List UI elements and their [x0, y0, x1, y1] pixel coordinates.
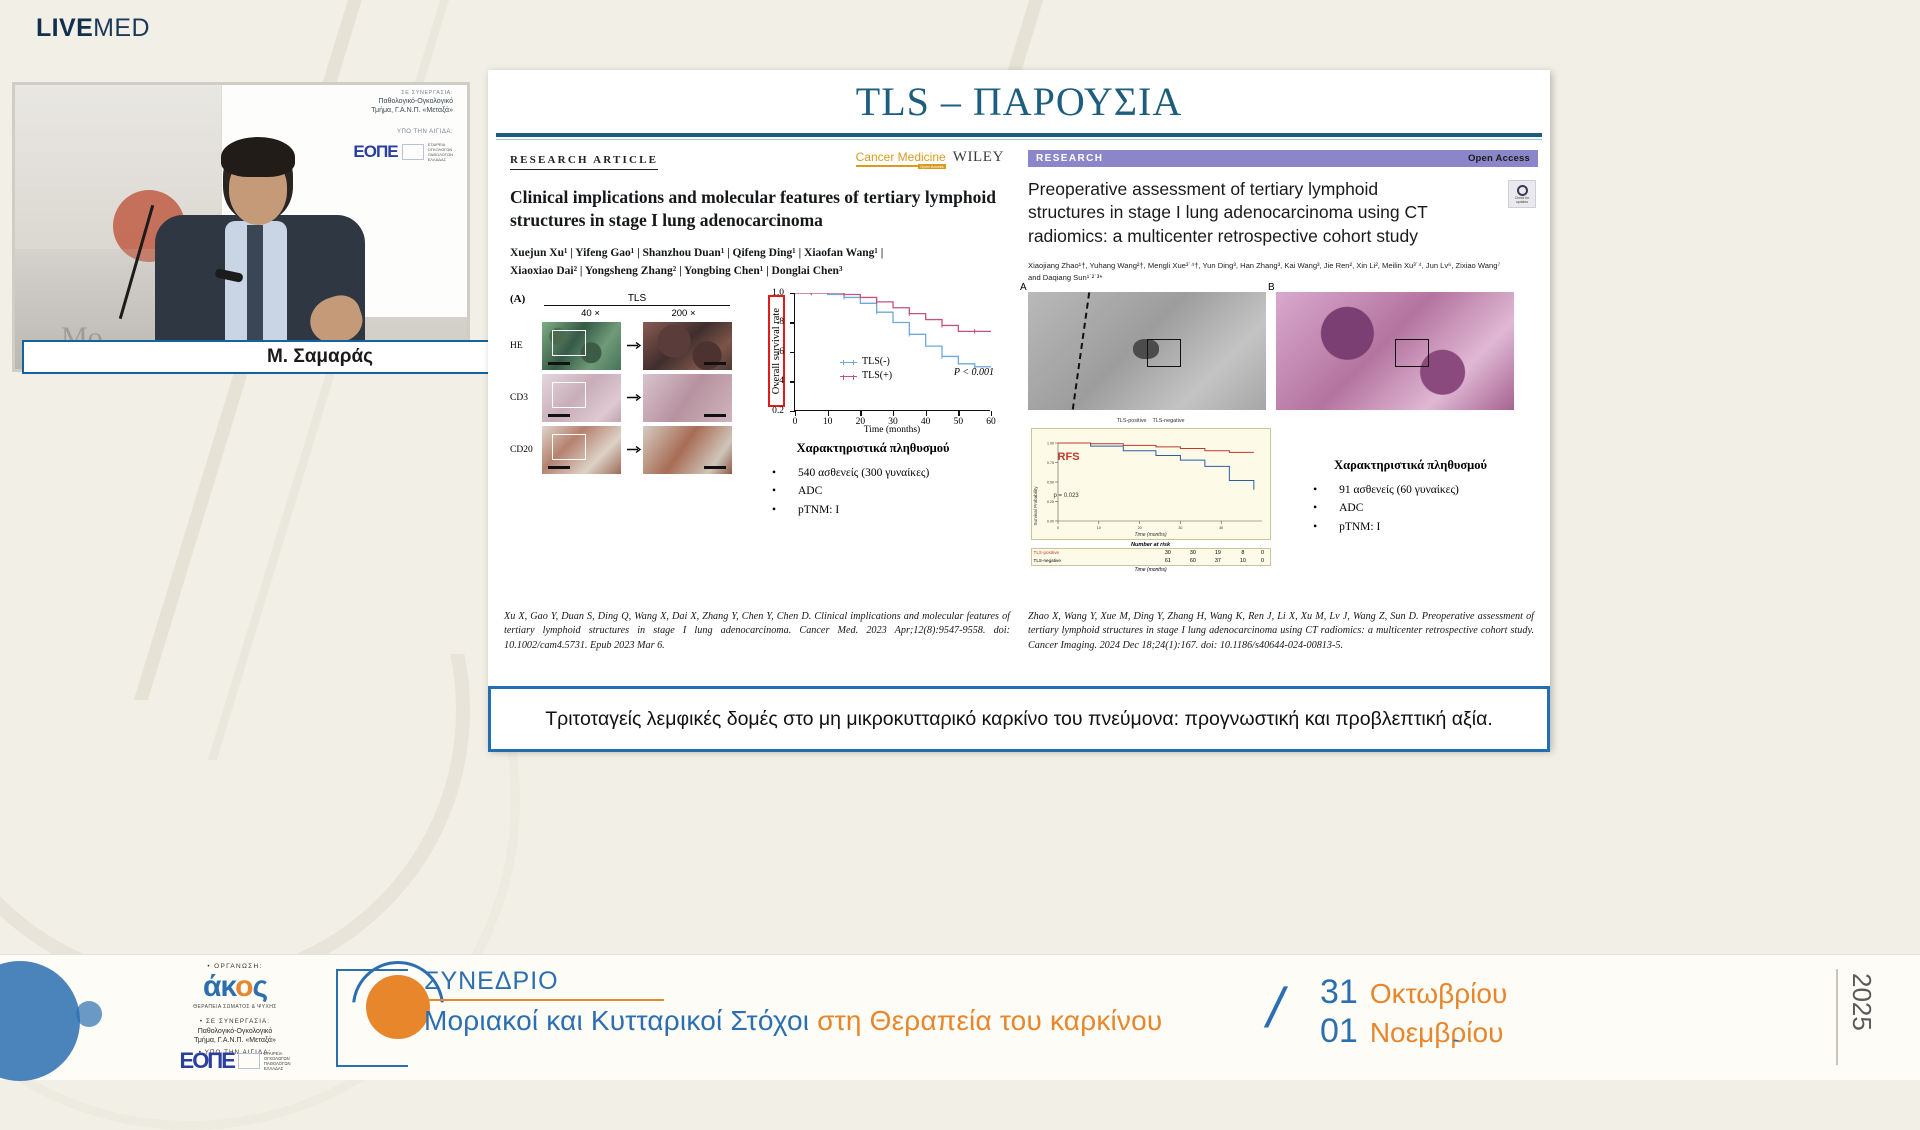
cell: 8: [1230, 548, 1255, 557]
date2-month: Νοεμβρίου: [1370, 1017, 1504, 1049]
open-access-tag: Open Access: [918, 164, 946, 169]
panel-label-a: (A): [510, 293, 525, 305]
km-x-tick: 20: [860, 411, 861, 416]
zoom-arrow-icon: [627, 445, 643, 454]
micrograph-he-40x: [542, 322, 621, 370]
right-paper-open-access: Open Access: [1468, 153, 1530, 164]
date1-month: Οκτωβρίου: [1370, 978, 1507, 1010]
footer-dates: 31 Οκτωβρίου 01 Νοεμβρίου -: [1320, 973, 1507, 1051]
footer-divider: [1836, 969, 1838, 1065]
zoom-arrow-icon: [627, 393, 643, 402]
akos-part-b: ο: [235, 970, 252, 1003]
legend-label: TLS(+): [862, 369, 892, 384]
cell: 61: [1155, 557, 1180, 566]
headline-orange: στη Θεραπεία του καρκίνου: [817, 1005, 1162, 1036]
journal-logos: Cancer Medicine Open Access WILEY: [856, 148, 1004, 166]
cell: 0: [1255, 557, 1270, 566]
footer-splat-small-icon: [76, 1001, 102, 1027]
footer-eope-logo: ΕΟΠΕ ΕΤΑΙΡΕΙΑ ΟΓΚΟΛΟΓΩΝ ΠΑΘΟΛΟΓΩΝ ΕΛΛΑΔΑ…: [140, 1048, 330, 1074]
ct-panel-b: B: [1276, 292, 1514, 410]
legend-label: TLS(-): [862, 355, 890, 370]
svg-text:20: 20: [1137, 526, 1141, 530]
table-row: TLS-positive 30 30 19 8 0: [1031, 548, 1270, 557]
right-population-header: Χαρακτηριστικά πληθυσμού: [1283, 458, 1538, 473]
legend-item-tls-pos: TLS(+): [840, 369, 892, 384]
risk-row-label: TLS-positive: [1031, 548, 1155, 557]
date-dash: -: [1453, 1029, 1460, 1052]
svg-text:40: 40: [1219, 526, 1223, 530]
panel-label-b: B: [1268, 282, 1275, 293]
speaker-tie: [247, 225, 263, 345]
speaker-video[interactable]: ΣΕ ΣΥΝΕΡΓΑΣΙΑ: Παθολογικό-Ογκολογικό Τμή…: [12, 82, 470, 372]
km-y-tick: .4: [790, 381, 795, 382]
micrograph-cd20-200x: [643, 426, 732, 474]
footer-slash: /: [1261, 975, 1290, 1040]
svg-text:0.50: 0.50: [1047, 480, 1054, 484]
rfs-legend-pos: TLS-positive: [1117, 418, 1147, 424]
crossmark-dot-icon: [1517, 185, 1528, 196]
stain-label-cd20: CD20: [510, 445, 542, 455]
rfs-chart-wrap: TLS-positive TLS-negative RFS p = 0.023 …: [1028, 428, 1273, 540]
footer-splat-icon: [0, 961, 80, 1081]
akos-tagline: ΘΕΡΑΠΕΙΑ ΣΩΜΑΤΟΣ & ΨΥΧΗΣ: [140, 1004, 330, 1010]
footer-headline: Μοριακοί και Κυτταρικοί Στόχοι στη Θεραπ…: [424, 1005, 1162, 1037]
roi-box-icon: [1147, 339, 1181, 367]
left-citation: Xu X, Gao Y, Duan S, Ding Q, Wang X, Dai…: [504, 610, 1010, 653]
scale-bar: [548, 362, 570, 365]
footer-organizers: • ΟΡΓΑΝΩΣΗ: άκος ΘΕΡΑΠΕΙΑ ΣΩΜΑΤΟΣ & ΨΥΧΗ…: [140, 963, 330, 1056]
micrograph-cd20-40x: [542, 426, 621, 474]
citations-row: Xu X, Gao Y, Duan S, Ding Q, Wang X, Dai…: [488, 610, 1550, 653]
number-at-risk-table: Number at risk TLS-positive 30 30 19 8 0: [1031, 542, 1271, 573]
km-y-tick: .6: [790, 352, 795, 353]
footer-rule: [424, 999, 664, 1001]
km-x-tick: 60: [991, 411, 992, 416]
km-y-tick-label: .6: [777, 347, 784, 357]
scale-bar: [548, 414, 570, 417]
slide-title: TLS – ΠΑΡΟΥΣΙΑ: [488, 70, 1550, 133]
organizer-label: • ΟΡΓΑΝΩΣΗ:: [140, 963, 330, 970]
footer-year: 2025: [1846, 973, 1877, 1031]
list-item: 540 ασθενείς (300 γυναίκες): [772, 464, 1004, 483]
slide-caption-text: Τριτοταγείς λεμφικές δομές στο μη μικροκ…: [545, 706, 1493, 732]
histology-row-he: HE: [510, 322, 738, 370]
logo-light: MED: [93, 14, 150, 42]
cell: 60: [1180, 557, 1205, 566]
akos-part-c: ς: [252, 970, 267, 1003]
left-paper-kicker: RESEARCH ARTICLE: [510, 154, 658, 170]
list-item: 91 ασθενείς (60 γυναίκες): [1313, 481, 1538, 500]
left-figure-row: (A) TLS 40 × 200 × HE: [510, 293, 1004, 520]
svg-text:0: 0: [1057, 526, 1059, 530]
annotation-dashed-line: [1072, 292, 1090, 409]
legend-item-tls-neg: TLS(-): [840, 355, 892, 370]
wiley-logo: WILEY: [953, 149, 1004, 166]
cell: 0: [1255, 548, 1270, 557]
km-y-tick: .8: [790, 322, 795, 323]
km-x-tick: 10: [828, 411, 829, 416]
scale-bar: [548, 466, 570, 469]
logo-bold: LIVE: [36, 14, 93, 42]
km-x-tick: 0: [795, 411, 796, 416]
roi-box-icon: [1395, 339, 1429, 367]
svg-text:1.00: 1.00: [1047, 441, 1054, 445]
crossmark-label: Check for updates: [1515, 196, 1530, 204]
crossmark-icon[interactable]: Check for updates: [1508, 180, 1536, 208]
date2-number: 01: [1320, 1012, 1358, 1051]
coop-label: • ΣΕ ΣΥΝΕΡΓΑΣΙΑ:: [140, 1018, 330, 1025]
backdrop-aegis-label: ΥΠΟ ΤΗΝ ΑΙΓΙΔΑ:: [397, 129, 453, 135]
speaker-hair: [221, 137, 295, 177]
akos-part-a: άκ: [203, 970, 235, 1003]
selection-box-icon: [552, 434, 586, 460]
rfs-legend-neg: TLS-negative: [1152, 418, 1184, 424]
magnification-row: 40 × 200 ×: [544, 306, 730, 322]
scale-bar: [704, 414, 726, 417]
footer-synedrio: ΣΥΝΕΔΡΙΟ: [424, 967, 1162, 996]
right-citation: Zhao X, Wang Y, Xue M, Ding Y, Zhang H, …: [1028, 610, 1534, 653]
eope-subtext: ΕΤΑΙΡΕΙΑ ΟΓΚΟΛΟΓΩΝ ΠΑΘΟΛΟΓΩΝ ΕΛΛΑΔΑΣ: [264, 1051, 291, 1072]
event-footer: • ΟΡΓΑΝΩΣΗ: άκος ΘΕΡΑΠΕΙΑ ΣΩΜΑΤΟΣ & ΨΥΧΗ…: [0, 954, 1920, 1080]
footer-event-title: ΣΥΝΕΔΡΙΟ Μοριακοί και Κυτταρικοί Στόχοι …: [424, 967, 1162, 1037]
km-x-tick: 30: [893, 411, 894, 416]
eope-box-icon: [402, 144, 424, 160]
stain-label-cd3: CD3: [510, 393, 542, 403]
cell: 19: [1205, 548, 1230, 557]
backdrop-dept-text: Παθολογικό-Ογκολογικό Τμήμα, Γ.Α.Ν.Π. «Μ…: [371, 97, 453, 116]
svg-text:30: 30: [1178, 526, 1182, 530]
km-y-tick-label: 0.2: [772, 406, 784, 416]
right-paper-authors: Xiaojiang Zhao¹†, Yuhang Wang²†, Mengli …: [1028, 260, 1508, 284]
km-pvalue: P < 0.001: [954, 367, 994, 378]
authors-line-2: Xiaoxiao Dai² | Yongsheng Zhang² | Yongb…: [510, 263, 1004, 281]
svg-text:0.00: 0.00: [1047, 519, 1054, 523]
selection-box-icon: [552, 330, 586, 356]
list-item: ADC: [1313, 499, 1538, 518]
svg-text:0.25: 0.25: [1047, 500, 1054, 504]
micrograph-he-200x: [643, 322, 732, 370]
km-y-tick-label: 1.0: [772, 288, 784, 298]
list-item: pTNM: I: [1313, 518, 1538, 537]
papers-row: RESEARCH ARTICLE Cancer Medicine Open Ac…: [488, 140, 1550, 610]
svg-text:10: 10: [1096, 526, 1100, 530]
svg-text:0.75: 0.75: [1047, 461, 1054, 465]
scale-bar: [704, 362, 726, 365]
eope-box-icon: [238, 1053, 260, 1069]
cell: 37: [1205, 557, 1230, 566]
eope-mark: ΕΟΠΕ: [180, 1048, 234, 1074]
date-row-1: 31 Οκτωβρίου: [1320, 973, 1507, 1012]
magnification-200x: 200 ×: [637, 306, 730, 322]
km-legend: TLS(-) TLS(+): [840, 355, 892, 384]
speaker-name: Μ. Σαμαράς: [267, 346, 373, 368]
ct-panel-a: A: [1028, 292, 1266, 410]
right-paper-panel: RESEARCH Open Access Check for updates P…: [1018, 140, 1550, 610]
scale-bar: [704, 466, 726, 469]
left-population-header: Χαρακτηριστικά πληθυσμού: [742, 441, 1004, 456]
date-row-2: 01 Νοεμβρίου: [1320, 1012, 1507, 1051]
km-y-tick-label: .4: [777, 376, 784, 386]
headline-blue: Μοριακοί και Κυτταρικοί Στόχοι: [424, 1005, 817, 1036]
slide-caption-bar: Τριτοταγείς λεμφικές δομές στο μη μικροκ…: [488, 686, 1550, 752]
presentation-slide[interactable]: TLS – ΠΑΡΟΥΣΙΑ RESEARCH ARTICLE Cancer M…: [488, 70, 1550, 750]
speaker-figure: [145, 137, 395, 372]
akos-logo: άκος: [140, 970, 330, 1004]
micrograph-cd3-200x: [643, 374, 732, 422]
micrograph-cd3-40x: [542, 374, 621, 422]
number-at-risk-xlabel: Time (months): [1031, 567, 1271, 573]
right-population-bullets: 91 ασθενείς (60 γυναίκες) ADC pTNM: I: [1283, 481, 1538, 537]
km-y-tick-label: .8: [777, 317, 784, 327]
selection-box-icon: [552, 382, 586, 408]
title-rule: [496, 133, 1542, 137]
slide-title-text: TLS – ΠΑΡΟΥΣΙΑ: [856, 78, 1182, 125]
right-paper-title: Preoperative assessment of tertiary lymp…: [1028, 178, 1448, 248]
stain-label-he: HE: [510, 341, 542, 351]
list-item: pTNM: I: [772, 501, 1004, 520]
panel-label-a: A: [1020, 282, 1027, 293]
eope-subtext: ΕΤΑΙΡΕΙΑ ΟΓΚΟΛΟΓΩΝ ΠΑΘΟΛΟΓΩΝ ΕΛΛΑΔΑΣ: [428, 142, 453, 162]
left-paper-title: Clinical implications and molecular feat…: [510, 186, 1004, 232]
histology-row-cd20: CD20: [510, 426, 738, 474]
ct-figure-row: A B: [1028, 292, 1538, 410]
rfs-legend: TLS-positive TLS-negative: [1032, 418, 1270, 424]
zoom-arrow-icon: [627, 341, 643, 350]
rfs-chart: TLS-positive TLS-negative RFS p = 0.023 …: [1031, 428, 1271, 540]
figure-group-header: TLS: [544, 293, 730, 306]
livemed-logo: LIVEMED: [36, 14, 150, 43]
left-paper-panel: RESEARCH ARTICLE Cancer Medicine Open Ac…: [488, 140, 1018, 610]
left-paper-authors: Xuejun Xu¹ | Yifeng Gao¹ | Shanzhou Duan…: [510, 245, 1004, 281]
km-y-tick: 1.0: [790, 293, 795, 294]
histology-figure: (A) TLS 40 × 200 × HE: [510, 293, 738, 520]
km-plot-area: 0.2.4.6.81.00102030405060: [794, 293, 990, 411]
km-x-tick: 50: [958, 411, 959, 416]
overall-survival-chart: Overall survival rate 0.2.4.6.81.0010203…: [768, 293, 998, 431]
date1-number: 31: [1320, 973, 1358, 1012]
table-row: TLS-negative 61 60 37 10 0: [1031, 557, 1270, 566]
left-population-bullets: 540 ασθενείς (300 γυναίκες) ADC pTNM: I: [742, 464, 1004, 520]
histology-row-cd3: CD3: [510, 374, 738, 422]
magnification-40x: 40 ×: [544, 306, 637, 322]
km-chart-panel: Overall survival rate 0.2.4.6.81.0010203…: [738, 293, 1004, 520]
coop-text: Παθολογικό-Ογκολογικό Τμήμα, Γ.Α.Ν.Π. «Μ…: [140, 1027, 330, 1045]
authors-line-1: Xuejun Xu¹ | Yifeng Gao¹ | Shanzhou Duan…: [510, 245, 1004, 263]
list-item: ADC: [772, 482, 1004, 501]
right-paper-kicker: RESEARCH: [1036, 153, 1103, 164]
cell: 30: [1180, 548, 1205, 557]
risk-row-label: TLS-negative: [1031, 557, 1155, 566]
cell: 30: [1155, 548, 1180, 557]
km-xlabel: Time (months): [794, 425, 990, 435]
backdrop-coop-label: ΣΕ ΣΥΝΕΡΓΑΣΙΑ:: [401, 90, 453, 96]
km-x-tick: 40: [926, 411, 927, 416]
cell: 10: [1230, 557, 1255, 566]
right-paper-kicker-bar: RESEARCH Open Access: [1028, 150, 1538, 167]
